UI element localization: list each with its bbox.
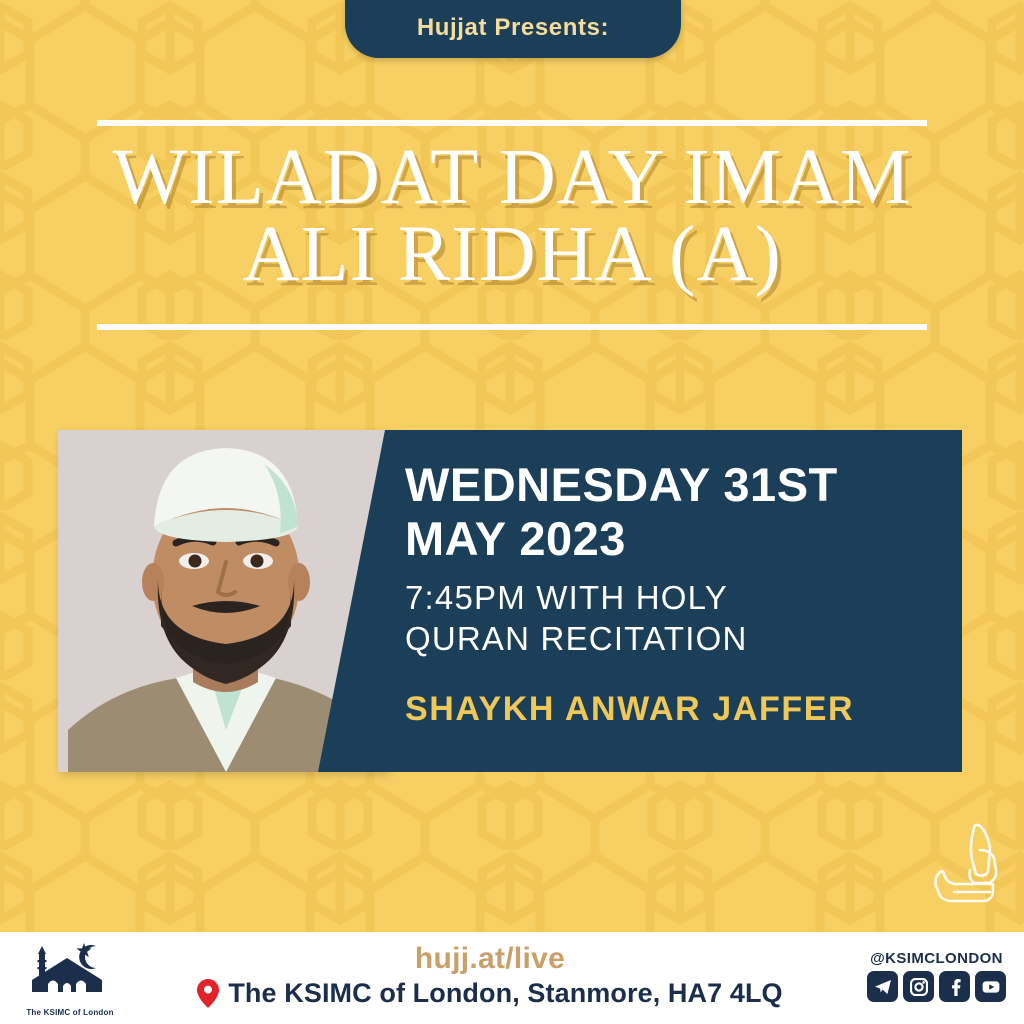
instagram-button[interactable]: [903, 971, 934, 1002]
event-detail-line-2: QURAN RECITATION: [405, 619, 942, 660]
event-date-line-1: WEDNESDAY 31ST: [405, 458, 942, 512]
dua-hands-icon: [930, 820, 1012, 908]
instagram-icon: [910, 978, 928, 996]
logo-caption: The KSIMC of London: [22, 1008, 118, 1017]
presents-label: Hujjat Presents:: [417, 2, 609, 42]
title-rule-top: [97, 120, 927, 126]
facebook-icon: [946, 978, 964, 996]
page-title: WILADAT DAY IMAM ALI RIDHA (A): [0, 140, 1024, 293]
footer-address-row: The KSIMC of London, Stanmore, HA7 4LQ: [150, 978, 830, 1009]
title-line-2: ALI RIDHA (A): [0, 217, 1024, 294]
youtube-button[interactable]: [975, 971, 1006, 1002]
event-poster: Hujjat Presents: WILADAT DAY IMAM ALI RI…: [0, 0, 1024, 1024]
title-rule-bottom: [97, 324, 927, 330]
event-date-line-2: MAY 2023: [405, 512, 942, 566]
venue-address: The KSIMC of London, Stanmore, HA7 4LQ: [228, 978, 782, 1009]
footer-center: hujj.at/live The KSIMC of London, Stanmo…: [150, 942, 830, 1009]
footer-bar: The KSIMC of London hujj.at/live The KSI…: [0, 932, 1024, 1024]
facebook-button[interactable]: [939, 971, 970, 1002]
social-icons: [867, 971, 1006, 1002]
telegram-button[interactable]: [867, 971, 898, 1002]
ksimc-logo: The KSIMC of London: [22, 940, 118, 1017]
youtube-icon: [982, 978, 1000, 996]
presents-banner: Hujjat Presents:: [345, 0, 681, 58]
social-handle: @KSIMCLONDON: [867, 950, 1006, 967]
mosque-logo-icon: [22, 940, 118, 1002]
title-line-1: WILADAT DAY IMAM: [0, 140, 1024, 217]
location-pin-icon: [197, 979, 219, 1008]
social-block: @KSIMCLONDON: [867, 950, 1006, 1002]
event-details-panel: WEDNESDAY 31ST MAY 2023 7:45PM WITH HOLY…: [310, 430, 962, 772]
livestream-url[interactable]: hujj.at/live: [150, 942, 830, 976]
speaker-name: SHAYKH ANWAR JAFFER: [405, 690, 942, 729]
event-detail-line-1: 7:45PM WITH HOLY: [405, 578, 942, 619]
telegram-icon: [874, 978, 892, 996]
